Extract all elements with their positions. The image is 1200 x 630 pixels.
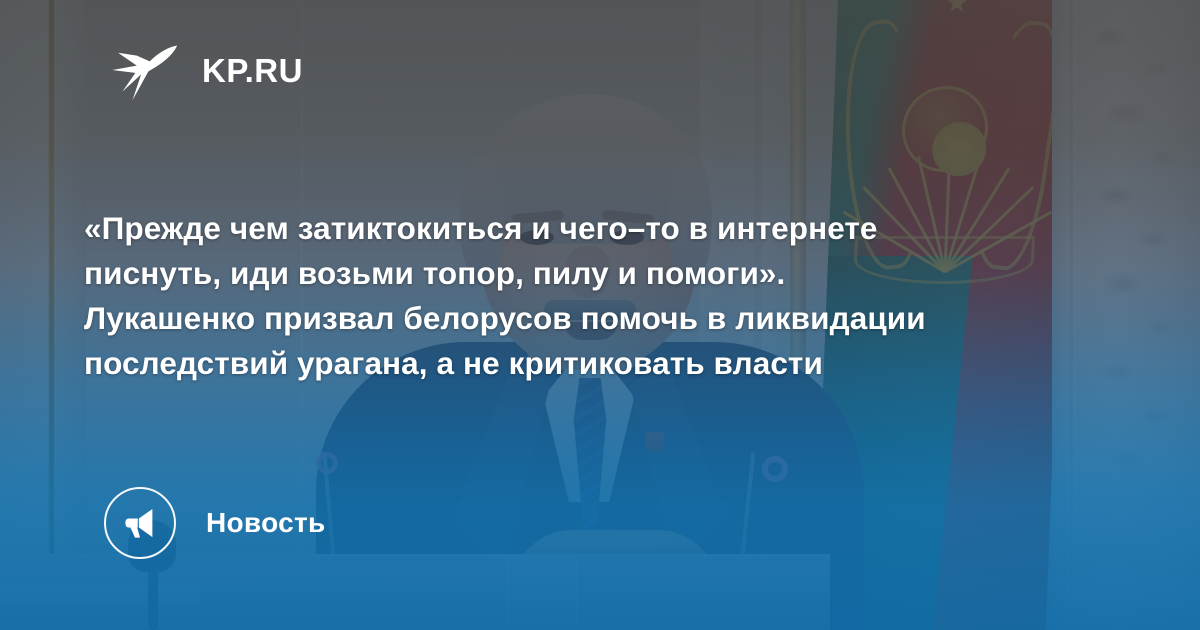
headline-line: Лукашенко призвал белорусов помочь в лик… xyxy=(84,296,1094,341)
news-share-card: KP.RU «Прежде чем затиктокиться и чего–т… xyxy=(0,0,1200,630)
brand-name: KP.RU xyxy=(202,54,303,87)
megaphone-icon xyxy=(122,505,158,541)
status-badge[interactable]: Новость xyxy=(104,487,326,559)
headline-line: «Прежде чем затиктокиться и чего–то в ин… xyxy=(84,206,1094,251)
headline-line: последствий урагана, а не критиковать вл… xyxy=(84,341,1094,386)
headline-line: писнуть, иди возьми топор, пилу и помоги… xyxy=(84,251,1094,296)
badge-icon-circle xyxy=(104,487,176,559)
card-content: KP.RU «Прежде чем затиктокиться и чего–т… xyxy=(0,0,1200,630)
page-title: «Прежде чем затиктокиться и чего–то в ин… xyxy=(84,206,1094,386)
status-badge-label: Новость xyxy=(206,507,326,539)
swallow-bird-icon xyxy=(108,34,180,106)
brand-lockup[interactable]: KP.RU xyxy=(108,34,303,106)
